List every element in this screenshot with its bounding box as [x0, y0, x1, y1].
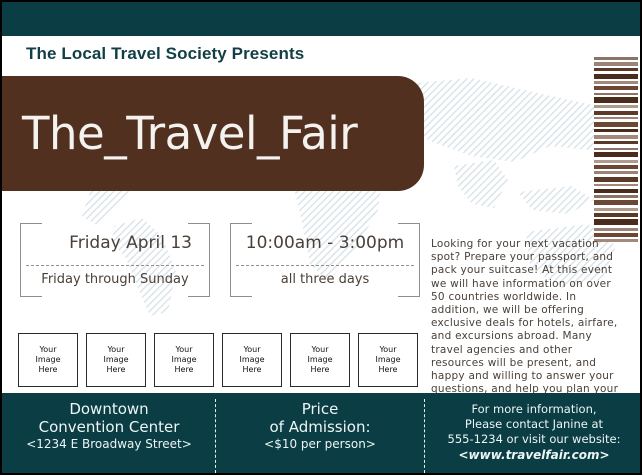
image-placeholder[interactable]: YourImageHere: [154, 333, 214, 387]
time-info-box: 10:00am - 3:00pm all three days: [230, 223, 420, 297]
image-placeholder-line: Your: [175, 345, 192, 355]
contact-phone: 555-1234 or visit our website:: [426, 432, 642, 447]
footer-divider-2: [424, 399, 425, 473]
image-placeholder-line: Image: [239, 355, 264, 365]
contact-block: For more information, Please contact Jan…: [426, 402, 642, 463]
price-line-2: of Admission:: [217, 418, 423, 436]
corner-top-right: [398, 223, 420, 224]
event-date-range: Friday through Sunday: [20, 272, 210, 287]
date-box-divider: [26, 265, 204, 266]
price-block: Price of Admission: <$10 per person>: [217, 400, 423, 452]
image-placeholder-line: Image: [171, 355, 196, 365]
venue-block: Downtown Convention Center <1234 E Broad…: [4, 400, 214, 452]
image-placeholder-line: Here: [379, 365, 398, 375]
image-placeholder[interactable]: YourImageHere: [358, 333, 418, 387]
top-accent-bar: [2, 2, 642, 36]
title-plate: The_Travel_Fair: [0, 76, 424, 191]
contact-line-2: Please contact Janine at: [426, 417, 642, 432]
image-placeholder-line: Your: [379, 345, 396, 355]
barcode: [594, 57, 638, 232]
image-placeholder-line: Here: [175, 365, 194, 375]
price-line-1: Price: [217, 400, 423, 418]
corner-bottom-left: [230, 296, 252, 297]
date-info-box: Friday April 13 Friday through Sunday: [20, 223, 210, 297]
image-placeholder-row: YourImageHereYourImageHereYourImageHereY…: [18, 333, 418, 387]
image-placeholder[interactable]: YourImageHere: [290, 333, 350, 387]
corner-top-left: [20, 223, 42, 224]
time-box-divider: [236, 265, 414, 266]
corner-bottom-right: [398, 296, 420, 297]
image-placeholder[interactable]: YourImageHere: [222, 333, 282, 387]
contact-line-1: For more information,: [426, 402, 642, 417]
image-placeholder-line: Here: [311, 365, 330, 375]
image-placeholder-line: Your: [311, 345, 328, 355]
footer-divider-1: [215, 399, 216, 473]
image-placeholder-line: Image: [375, 355, 400, 365]
price-amount: <$10 per person>: [217, 436, 423, 452]
image-placeholder-line: Here: [243, 365, 262, 375]
venue-line-1: Downtown: [4, 400, 214, 418]
image-placeholder-line: Here: [107, 365, 126, 375]
corner-top-right: [188, 223, 210, 224]
corner-bottom-left: [20, 296, 42, 297]
event-description: Looking for your next vacation spot? Pre…: [431, 238, 627, 410]
image-placeholder-line: Image: [307, 355, 332, 365]
contact-website[interactable]: <www.travelfair.com>: [426, 447, 642, 463]
image-placeholder-line: Image: [35, 355, 60, 365]
image-placeholder[interactable]: YourImageHere: [86, 333, 146, 387]
venue-address: <1234 E Broadway Street>: [4, 436, 214, 452]
ticket-flyer: The Local Travel Society Presents: [0, 0, 642, 475]
corner-top-left: [230, 223, 252, 224]
image-placeholder[interactable]: YourImageHere: [18, 333, 78, 387]
image-placeholder-line: Image: [103, 355, 128, 365]
image-placeholder-line: Your: [39, 345, 56, 355]
image-placeholder-line: Your: [107, 345, 124, 355]
presenter-title: The Local Travel Society Presents: [26, 44, 304, 64]
image-placeholder-line: Your: [243, 345, 260, 355]
event-title: The_Travel_Fair: [22, 107, 357, 160]
event-hours: 10:00am - 3:00pm: [230, 233, 420, 253]
event-date: Friday April 13: [20, 233, 210, 253]
venue-line-2: Convention Center: [4, 418, 214, 436]
image-placeholder-line: Here: [39, 365, 58, 375]
event-hours-note: all three days: [230, 272, 420, 287]
corner-bottom-right: [188, 296, 210, 297]
